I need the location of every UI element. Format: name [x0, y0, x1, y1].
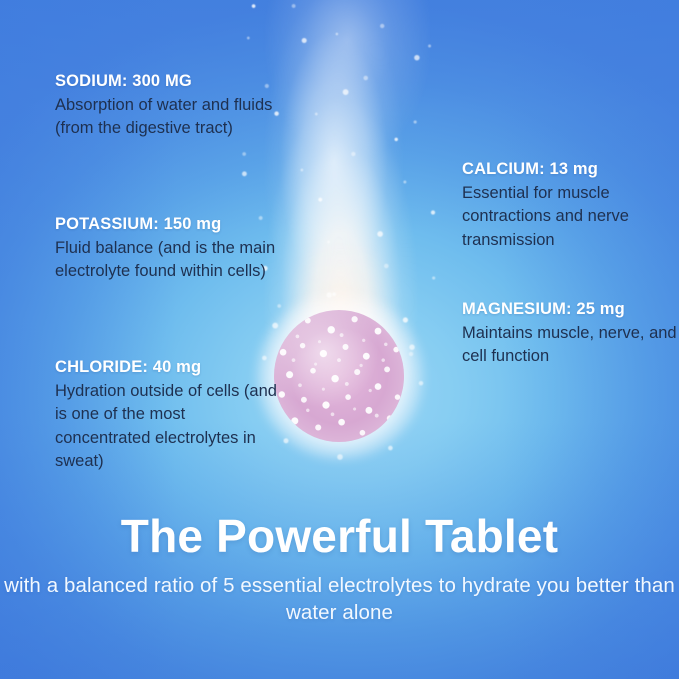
nutrient-description-calcium: Essential for muscle contractions and ne…: [462, 182, 679, 252]
nutrient-description-potassium: Fluid balance (and is the main electroly…: [55, 237, 280, 284]
nutrient-title-chloride: CHLORIDE: 40 mg: [55, 358, 280, 377]
nutrient-title-sodium: SODIUM: 300 MG: [55, 72, 280, 91]
headline-title: The Powerful Tablet: [0, 512, 679, 561]
footer-headline-block: The Powerful Tablet with a balanced rati…: [0, 512, 679, 627]
nutrient-item-potassium: POTASSIUM: 150 mg Fluid balance (and is …: [55, 215, 280, 284]
nutrient-title-potassium: POTASSIUM: 150 mg: [55, 215, 280, 234]
nutrient-item-magnesium: MAGNESIUM: 25 mg Maintains muscle, nerve…: [462, 300, 679, 369]
nutrient-item-calcium: CALCIUM: 13 mg Essential for muscle cont…: [462, 160, 679, 252]
headline-subtitle: with a balanced ratio of 5 essential ele…: [0, 572, 679, 627]
nutrient-item-sodium: SODIUM: 300 MG Absorption of water and f…: [55, 72, 280, 141]
nutrient-item-chloride: CHLORIDE: 40 mg Hydration outside of cel…: [55, 358, 280, 474]
nutrient-description-chloride: Hydration outside of cells (and is one o…: [55, 380, 280, 474]
nutrient-title-magnesium: MAGNESIUM: 25 mg: [462, 300, 679, 319]
infographic-canvas: SODIUM: 300 MG Absorption of water and f…: [0, 0, 679, 679]
nutrient-description-magnesium: Maintains muscle, nerve, and cell functi…: [462, 322, 679, 369]
nutrient-title-calcium: CALCIUM: 13 mg: [462, 160, 679, 179]
nutrient-description-sodium: Absorption of water and fluids (from the…: [55, 94, 280, 141]
